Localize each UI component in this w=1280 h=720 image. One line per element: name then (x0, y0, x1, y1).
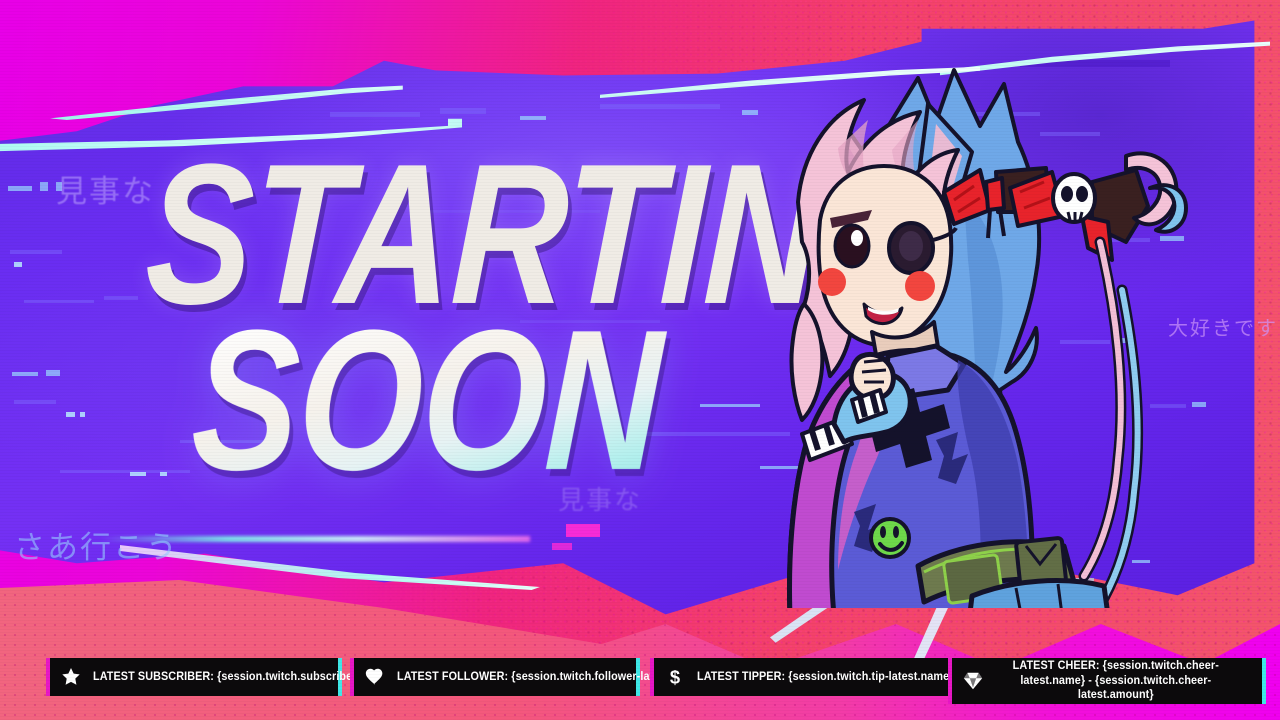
japanese-text-top-left: 見事な (56, 166, 155, 211)
ticker-latest-subscriber[interactable]: LATEST SUBSCRIBER: {session.twitch.subsc… (46, 658, 342, 696)
star-icon (58, 664, 84, 690)
ticker-latest-tipper[interactable]: $ LATEST TIPPER: {session.twitch.tip-lat… (650, 658, 956, 696)
dollar-icon: $ (662, 664, 688, 690)
ticker-cheer-text: LATEST CHEER: {session.twitch.cheer-late… (995, 659, 1237, 702)
ticker-bar-group: LATEST SUBSCRIBER: {session.twitch.subsc… (0, 658, 1280, 720)
stream-overlay-canvas: 見事な さあ行こう 見事な 大好きです STARTING SOON (0, 0, 1280, 720)
headline-line-soon: SOON (189, 321, 735, 481)
svg-text:$: $ (670, 666, 680, 687)
character-illustration (768, 60, 1188, 630)
pink-glitch-box-1 (566, 524, 600, 537)
gem-icon (960, 668, 986, 694)
headline-underglow-streak (100, 536, 530, 542)
ticker-latest-cheer[interactable]: LATEST CHEER: {session.twitch.cheer-late… (948, 658, 1266, 704)
heart-icon (362, 664, 388, 690)
headline-group: STARTING SOON (150, 155, 870, 575)
pink-glitch-box-2 (552, 543, 572, 550)
ticker-latest-follower[interactable]: LATEST FOLLOWER: {session.twitch.followe… (350, 658, 640, 696)
